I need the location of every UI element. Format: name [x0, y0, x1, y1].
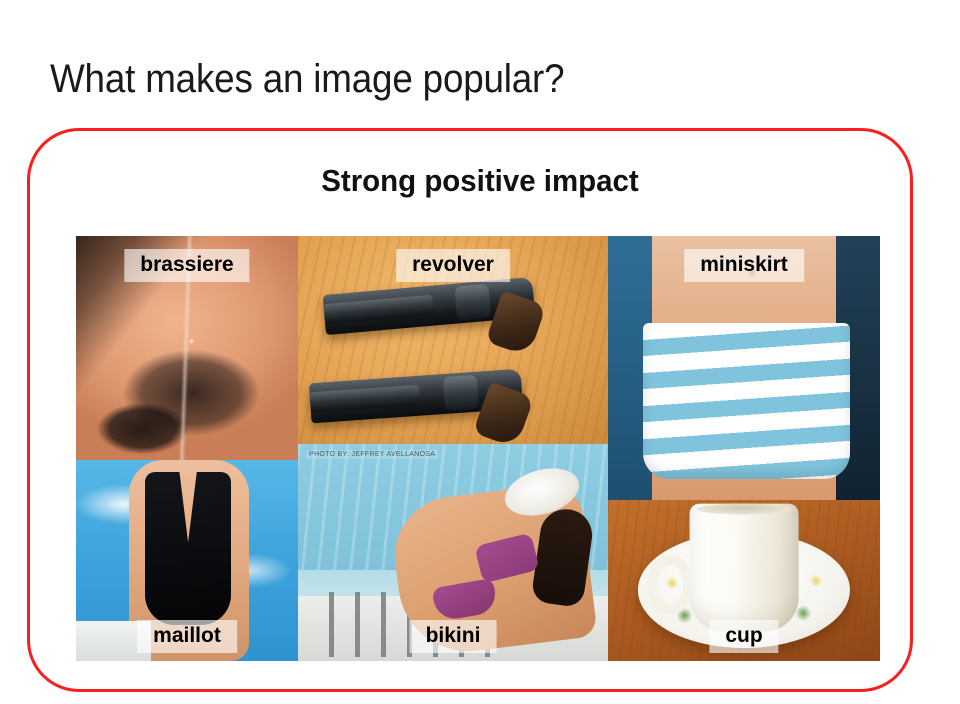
revolver-shape-upper [323, 277, 536, 335]
tile-label-bikini: bikini [410, 620, 497, 653]
image-mosaic: brassiere revolver [76, 236, 880, 661]
revolver-shape-lower [309, 369, 523, 424]
image-tile-cup[interactable]: cup [608, 500, 880, 661]
revolver-grip [473, 382, 535, 444]
image-tile-bikini[interactable]: PHOTO BY: JEFFREY AVELLANOSA bikini [298, 444, 608, 661]
cup-handle [648, 555, 694, 615]
page-title: What makes an image popular? [50, 57, 564, 102]
image-tile-brassiere[interactable]: brassiere [76, 236, 298, 460]
revolver-grip [485, 290, 546, 356]
photo-credit-watermark: PHOTO BY: JEFFREY AVELLANOSA [306, 450, 438, 459]
slide-canvas: What makes an image popular? Strong posi… [0, 0, 960, 704]
tile-label-revolver: revolver [396, 249, 510, 282]
revolver-barrel [323, 295, 434, 324]
revolver-barrel [309, 385, 420, 413]
image-tile-revolver[interactable]: revolver [298, 236, 608, 444]
tile-label-brassiere: brassiere [124, 249, 249, 282]
tile-label-miniskirt: miniskirt [684, 249, 804, 282]
image-tile-maillot[interactable]: maillot [76, 460, 298, 661]
group-heading: Strong positive impact [24, 163, 936, 199]
revolver-cylinder [443, 375, 479, 411]
tile-label-cup: cup [709, 620, 778, 653]
miniskirt-striped-skirt [643, 323, 850, 479]
tile-label-maillot: maillot [137, 620, 237, 653]
revolver-cylinder [454, 284, 491, 321]
cup-body [690, 503, 799, 632]
image-tile-miniskirt[interactable]: miniskirt [608, 236, 880, 500]
